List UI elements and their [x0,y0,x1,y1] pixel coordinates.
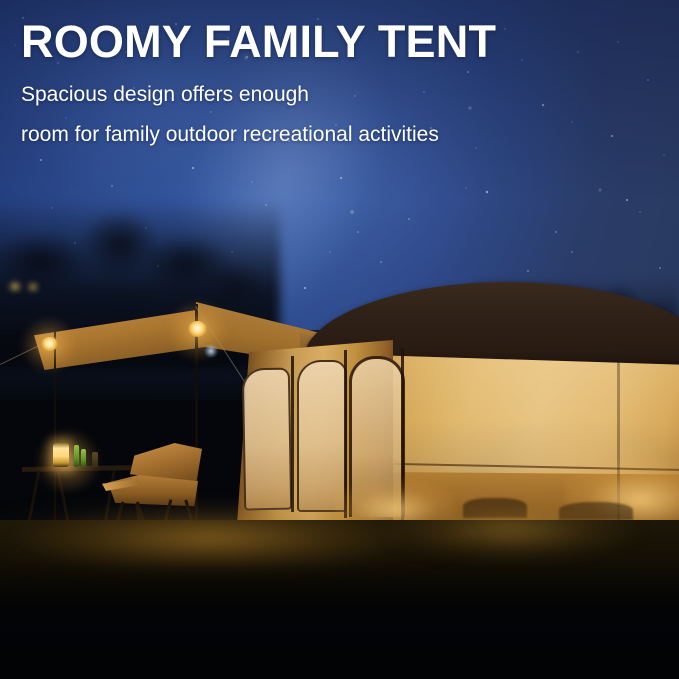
bottle-green-a [74,445,79,467]
porch-mesh-window-left [242,368,292,511]
page-title: ROOMY FAMILY TENT [21,19,496,64]
small-blue-light [205,345,217,357]
ground-bottom-vignette [0,560,679,679]
table-lantern [53,443,69,467]
subtitle-line-1: Spacious design offers enough [21,84,309,105]
product-lifestyle-banner: ROOMY FAMILY TENT Spacious design offers… [0,0,679,679]
subtitle-line-2: room for family outdoor recreational act… [21,124,439,145]
lantern-left [41,337,58,351]
bottle-green-b [81,449,86,467]
porch-pole-a [291,356,294,512]
lantern-center [188,321,207,337]
